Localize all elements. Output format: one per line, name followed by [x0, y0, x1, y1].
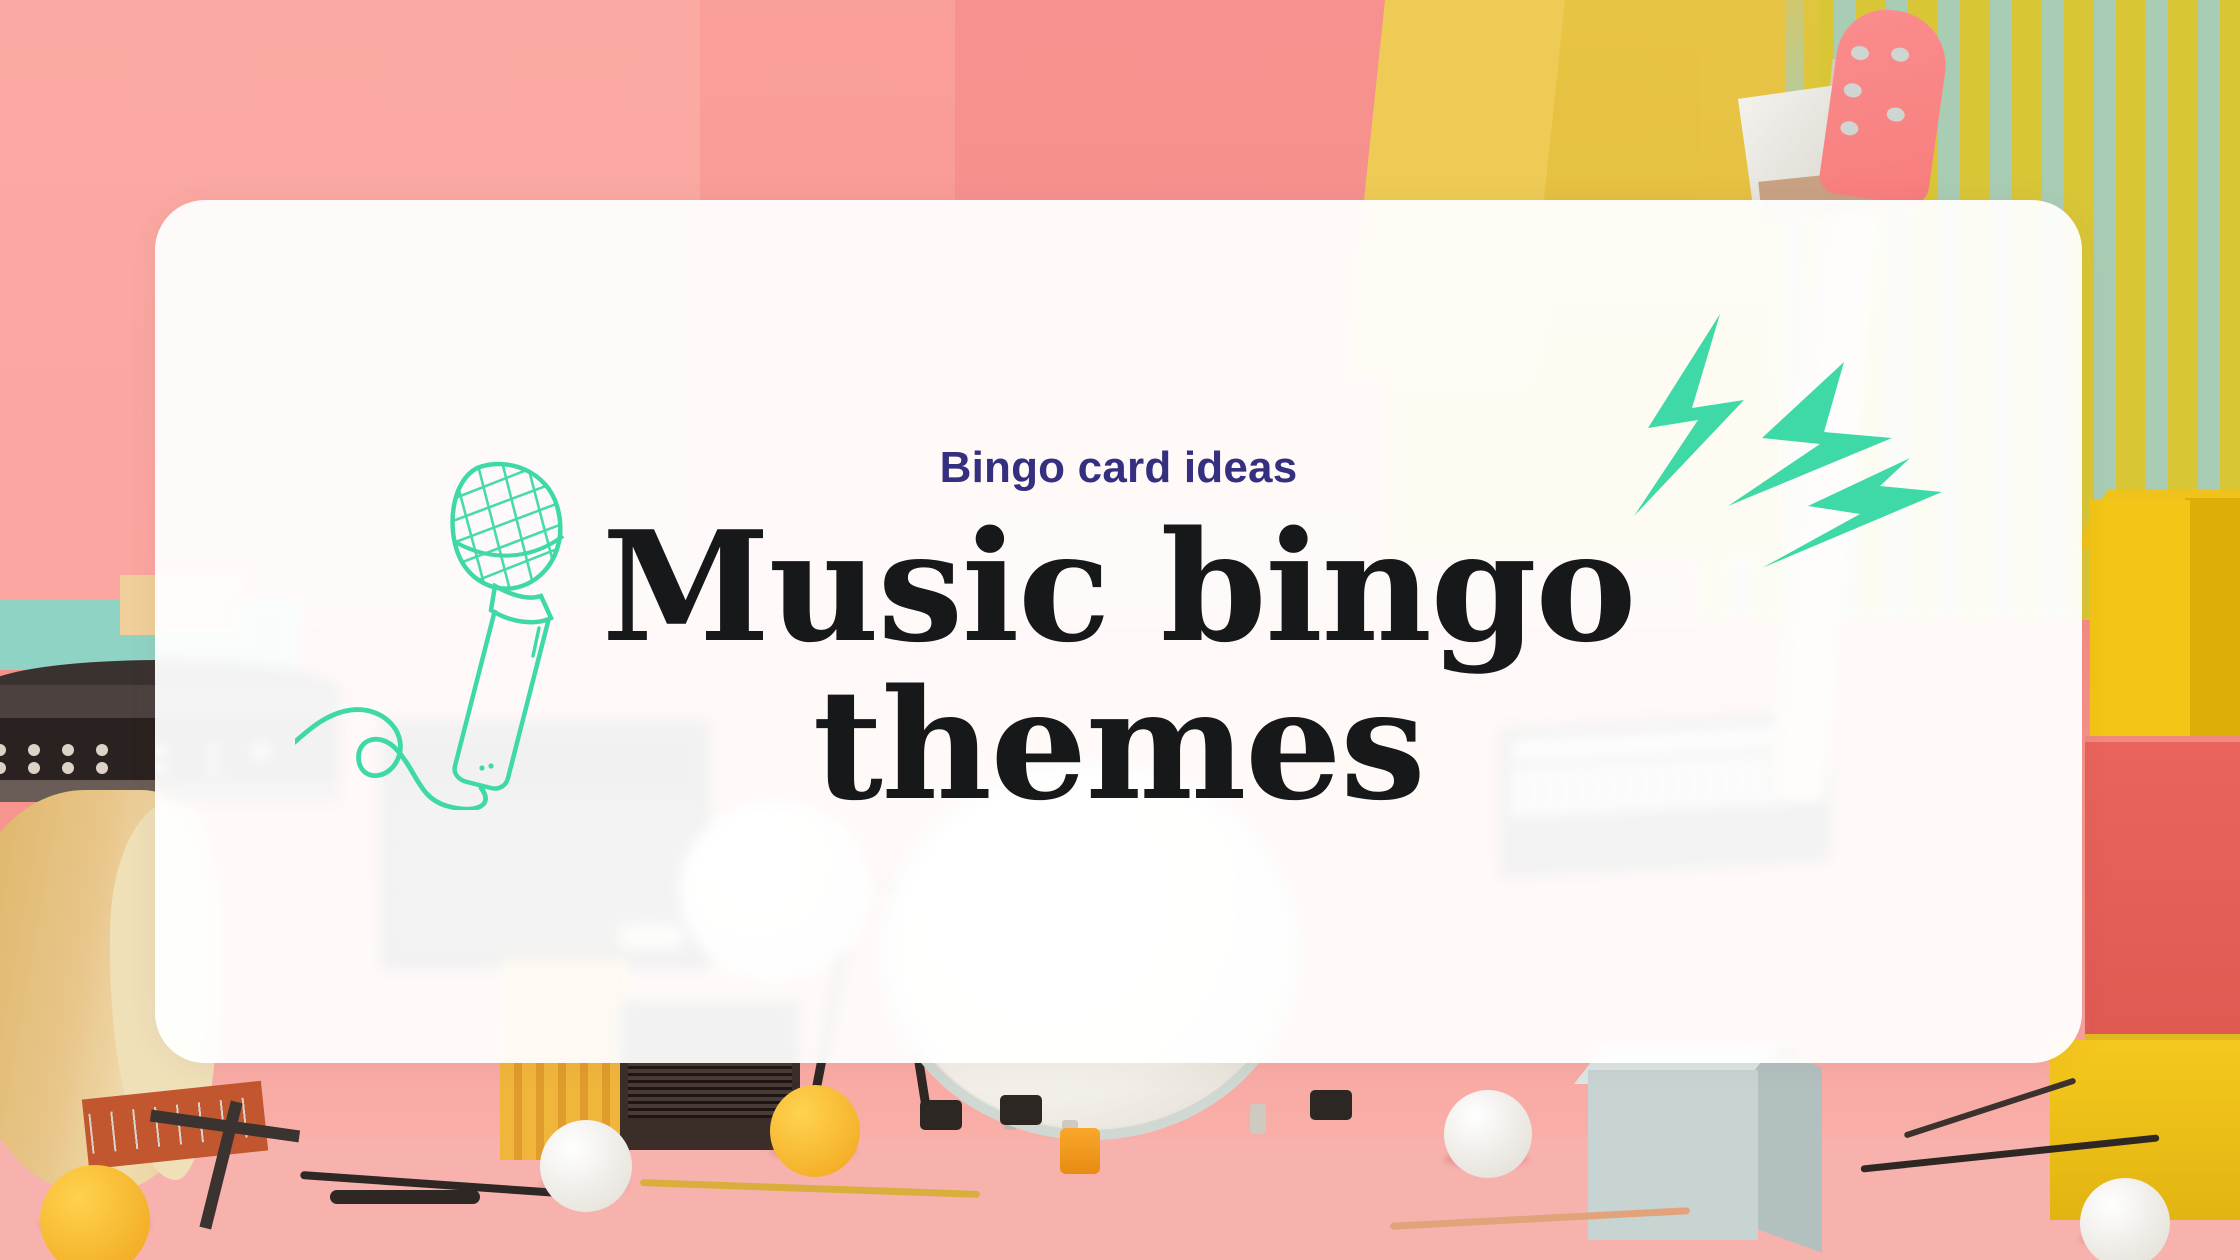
white-ball	[1444, 1090, 1532, 1178]
drum-stand-foot	[920, 1100, 962, 1130]
microphone-icon	[295, 450, 635, 810]
orange-block	[1060, 1128, 1100, 1174]
drum-stand-foot	[1310, 1090, 1352, 1120]
page-title: Music bingo themes	[602, 511, 1635, 821]
white-ball	[540, 1120, 632, 1212]
lightning-bolt-icon	[1612, 310, 1972, 600]
headline-line-2: themes	[602, 669, 1635, 821]
lightning-bolts-illustration	[1612, 310, 1972, 600]
drum-stand-foot	[1000, 1095, 1042, 1125]
eyebrow-label: Bingo card ideas	[940, 443, 1298, 493]
coral-platform	[2085, 742, 2240, 1042]
content-card: Bingo card ideas Music bingo themes	[155, 200, 2082, 1063]
yellow-cube-front-face	[2090, 500, 2190, 750]
headline-line-1: Music bingo	[602, 511, 1635, 663]
orange-ball	[770, 1085, 860, 1177]
white-ball	[2080, 1178, 2170, 1260]
grey-cube-side-face	[1752, 1042, 1822, 1252]
mic-stand-base	[330, 1190, 480, 1204]
yellow-cube-side-face	[2185, 498, 2240, 746]
bass-drum-claw	[1250, 1104, 1266, 1134]
microphone-illustration	[295, 450, 635, 810]
poster-canvas: Bingo card ideas Music bingo themes	[0, 0, 2240, 1260]
